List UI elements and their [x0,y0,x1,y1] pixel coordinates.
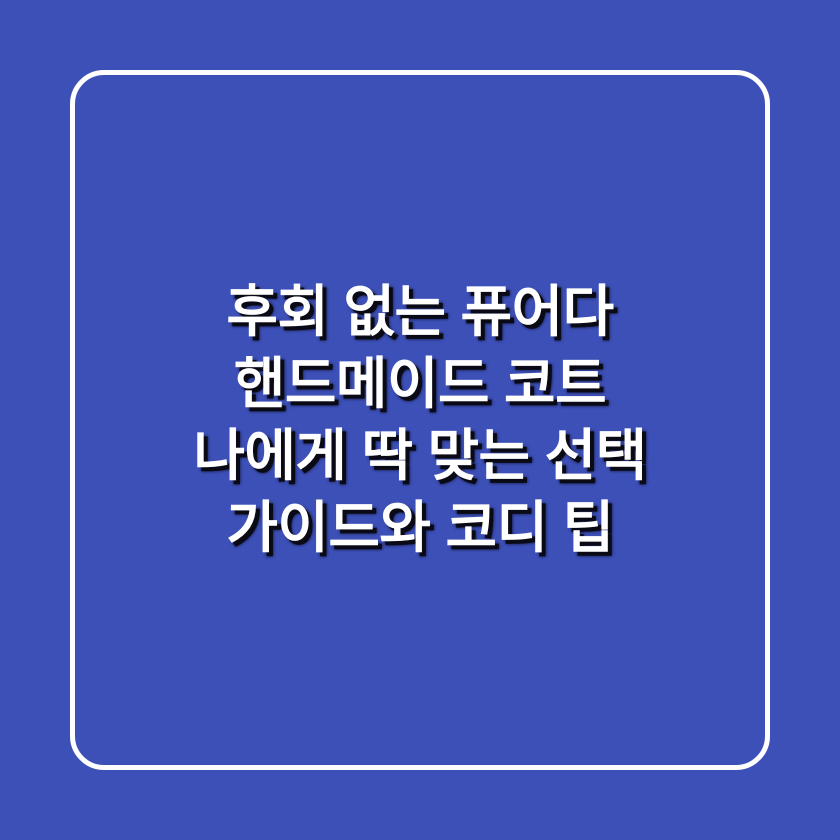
headline-line-3: 나에게 딱 맞는 선택 [0,420,840,492]
headline-line-2: 핸드메이드 코트 [0,348,840,420]
headline-line-4: 가이드와 코디 팁 [0,492,840,564]
headline-block: 후회 없는 퓨어다 핸드메이드 코트 나에게 딱 맞는 선택 가이드와 코디 팁 [0,0,840,840]
thumbnail-canvas: 후회 없는 퓨어다 핸드메이드 코트 나에게 딱 맞는 선택 가이드와 코디 팁 [0,0,840,840]
headline-line-1: 후회 없는 퓨어다 [0,276,840,348]
